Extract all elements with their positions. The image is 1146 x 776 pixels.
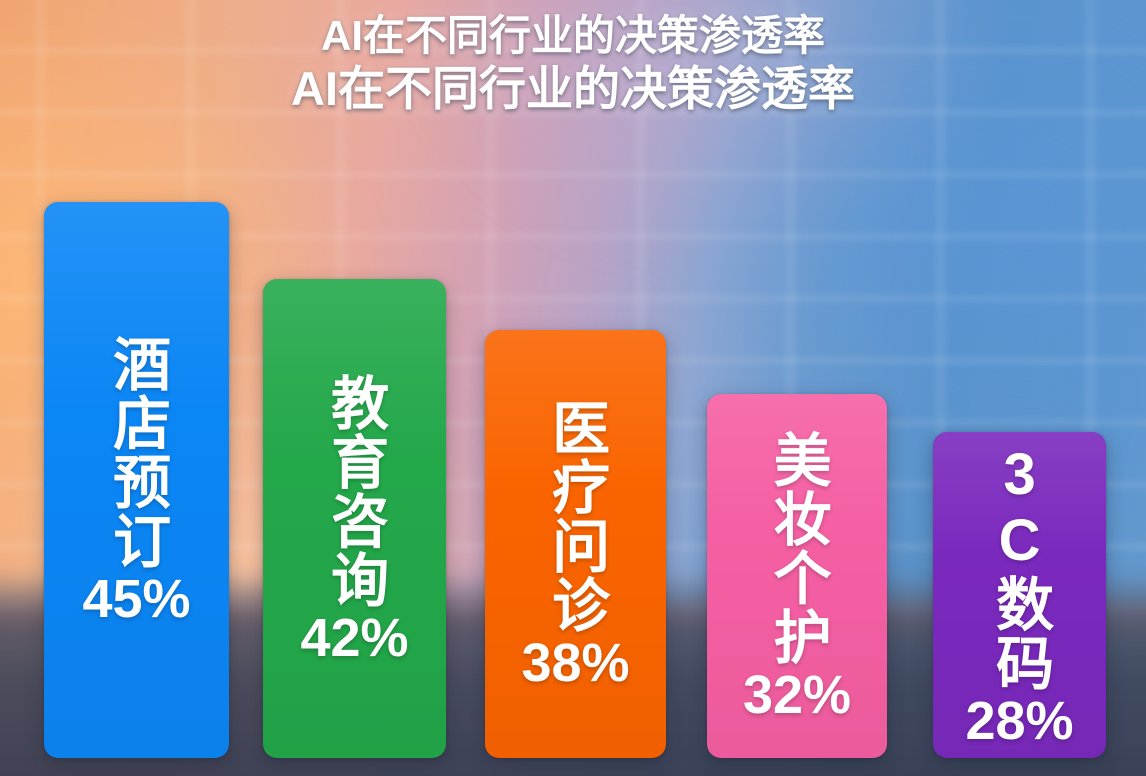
chart-canvas: AI在不同行业的决策渗透率 AI在不同行业的决策渗透率 酒店预订 45% 教育咨… — [0, 0, 1146, 776]
bar-group: 酒店预订 45% 教育咨询 42% 医疗问诊 38% 美妆个护 32% 3C数码… — [0, 0, 1146, 776]
bar-3c-digital[interactable]: 3C数码 28% — [933, 432, 1106, 758]
bar-education-consulting[interactable]: 教育咨询 42% — [263, 279, 446, 758]
bar-value: 42% — [300, 609, 408, 665]
bar-medical-consultation[interactable]: 医疗问诊 38% — [485, 330, 666, 758]
bar-label: 教育咨询 — [325, 373, 384, 609]
bar-value: 38% — [521, 634, 629, 690]
bar-beauty-personal-care[interactable]: 美妆个护 32% — [707, 394, 887, 758]
title-line-2: AI在不同行业的决策渗透率 — [0, 62, 1146, 116]
bar-label: 美妆个护 — [767, 430, 826, 666]
bar-label: 3C数码 — [990, 442, 1049, 692]
bar-hotel-booking[interactable]: 酒店预订 45% — [44, 202, 229, 758]
bar-value: 28% — [965, 692, 1073, 748]
title-line-1: AI在不同行业的决策渗透率 — [0, 12, 1146, 60]
chart-title: AI在不同行业的决策渗透率 AI在不同行业的决策渗透率 — [0, 12, 1146, 115]
bar-label: 医疗问诊 — [546, 398, 605, 634]
bar-value: 32% — [743, 666, 851, 722]
bar-label: 酒店预订 — [107, 334, 166, 570]
bar-value: 45% — [82, 570, 190, 626]
